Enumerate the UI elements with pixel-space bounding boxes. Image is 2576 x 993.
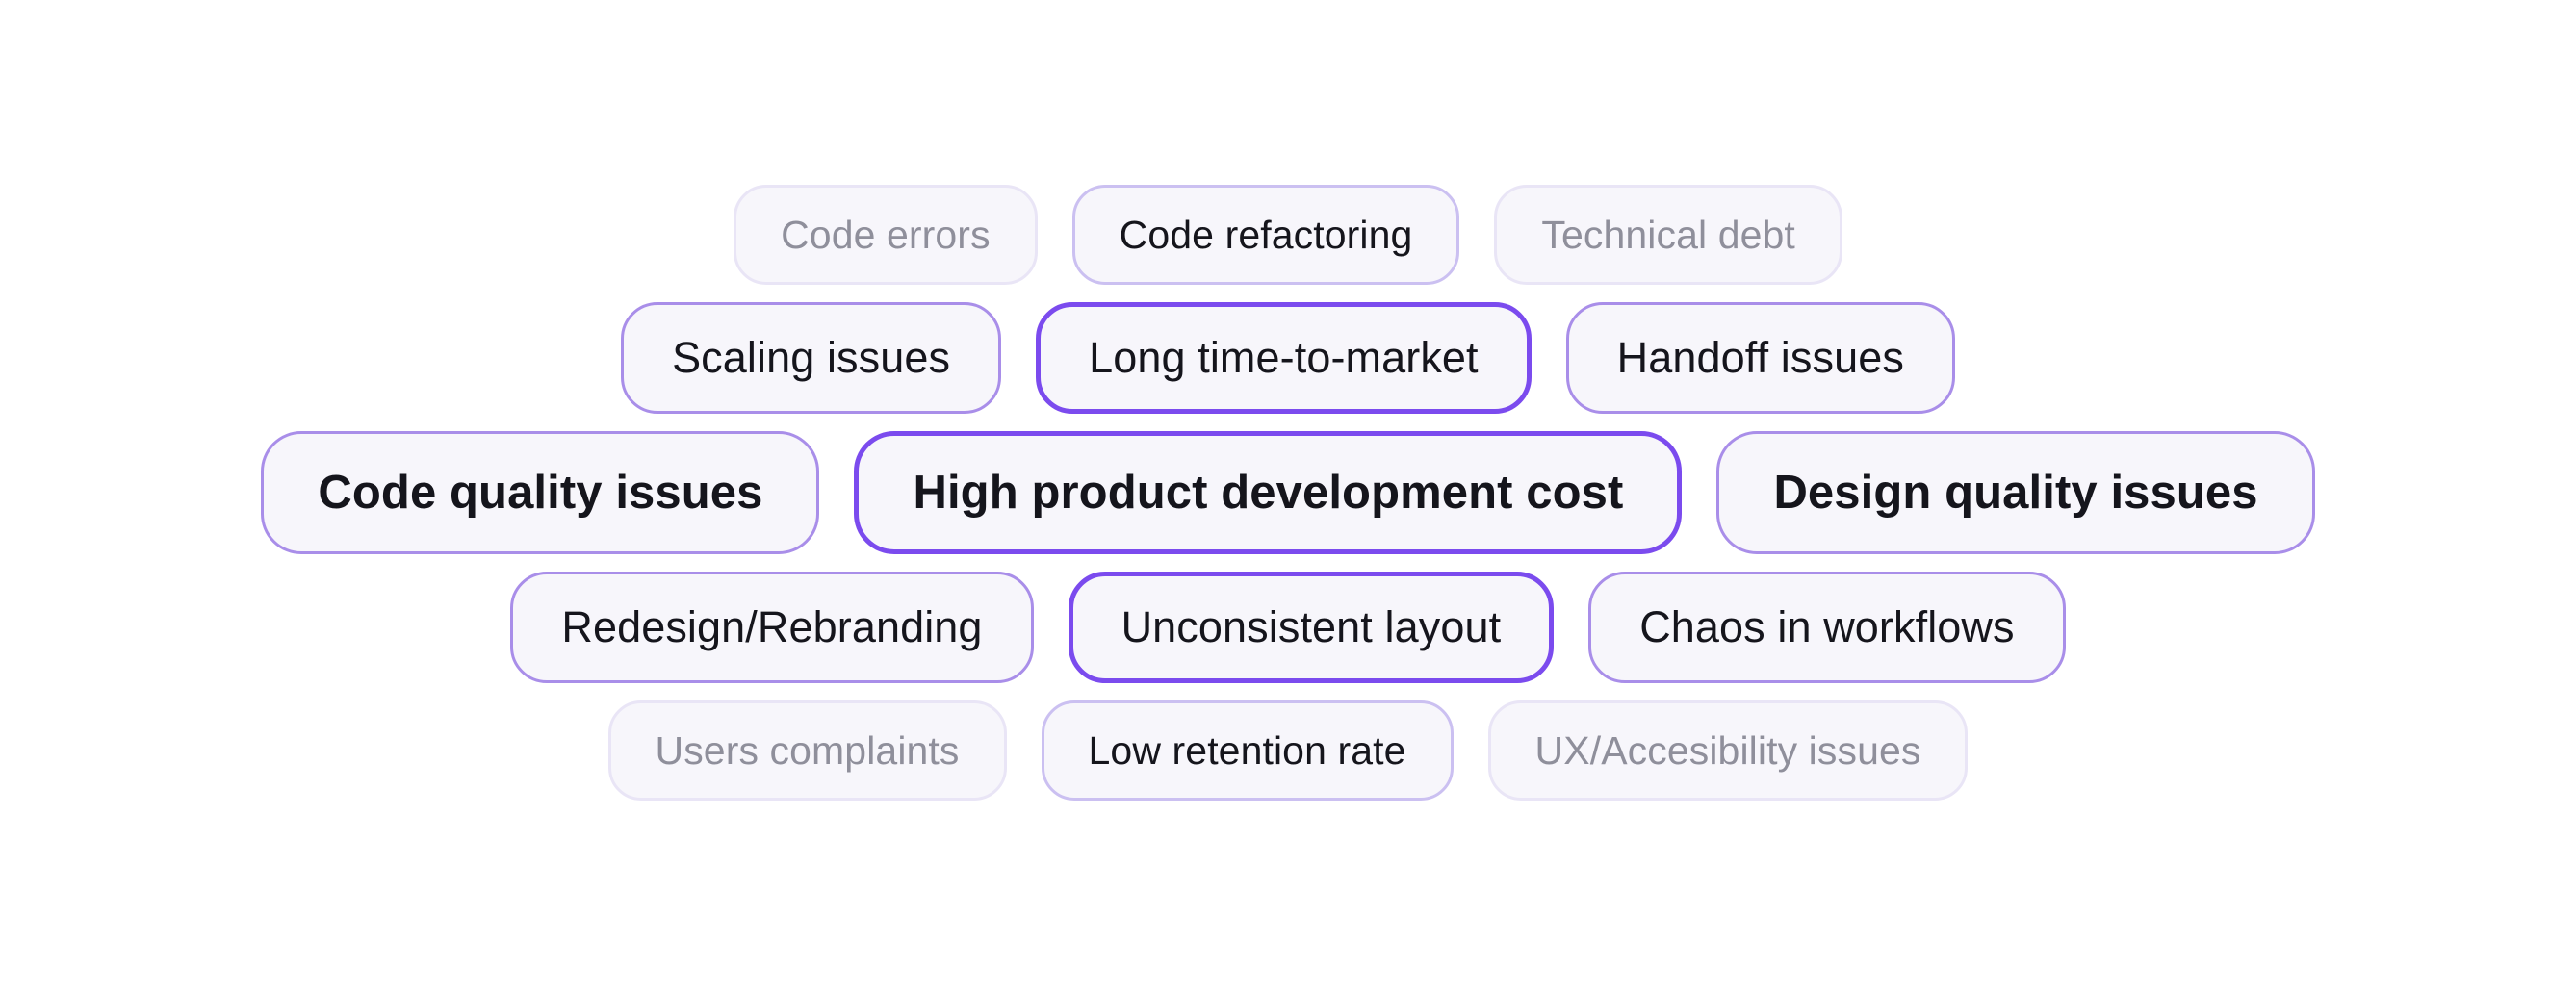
- tag-pill-label: Design quality issues: [1773, 466, 2257, 520]
- tag-pill[interactable]: Low retention rate: [1042, 700, 1454, 801]
- tag-pill[interactable]: Chaos in workflows: [1588, 572, 2065, 683]
- tag-pill[interactable]: Long time-to-market: [1036, 302, 1532, 414]
- tag-pill[interactable]: High product development cost: [854, 431, 1682, 554]
- tag-pill[interactable]: Code quality issues: [261, 431, 819, 554]
- tag-pill-label: Redesign/Rebranding: [561, 602, 982, 652]
- tag-row: Users complaintsLow retention rateUX/Acc…: [608, 700, 1969, 801]
- tag-pill[interactable]: Scaling issues: [621, 302, 1001, 414]
- tag-pill[interactable]: Code errors: [734, 185, 1038, 285]
- tag-pill[interactable]: Users complaints: [608, 700, 1007, 801]
- tag-pill-label: Low retention rate: [1089, 728, 1406, 774]
- tag-pill[interactable]: Unconsistent layout: [1069, 572, 1555, 683]
- tag-pill[interactable]: Design quality issues: [1716, 431, 2314, 554]
- tag-pill[interactable]: Technical debt: [1494, 185, 1842, 285]
- tag-pill[interactable]: Handoff issues: [1566, 302, 1955, 414]
- tag-pill-label: Long time-to-market: [1089, 333, 1479, 383]
- tag-pill-label: Code errors: [781, 213, 991, 258]
- tag-pill-label: Code quality issues: [318, 466, 762, 520]
- tag-pill-label: Technical debt: [1541, 213, 1795, 258]
- tag-pill[interactable]: Code refactoring: [1072, 185, 1460, 285]
- tag-pill-label: High product development cost: [913, 466, 1623, 520]
- tag-matrix: Code errorsCode refactoringTechnical deb…: [0, 0, 2576, 993]
- tag-row: Redesign/RebrandingUnconsistent layoutCh…: [510, 572, 2065, 683]
- tag-row: Code quality issuesHigh product developm…: [261, 431, 2314, 554]
- tag-row: Code errorsCode refactoringTechnical deb…: [734, 185, 1842, 285]
- tag-pill-label: Handoff issues: [1617, 333, 1904, 383]
- tag-pill-label: Code refactoring: [1120, 213, 1413, 258]
- tag-pill-label: Unconsistent layout: [1121, 602, 1502, 652]
- tag-pill[interactable]: Redesign/Rebranding: [510, 572, 1033, 683]
- tag-pill[interactable]: UX/Accesibility issues: [1488, 700, 1969, 801]
- tag-pill-label: UX/Accesibility issues: [1535, 728, 1921, 774]
- tag-row: Scaling issuesLong time-to-marketHandoff…: [621, 302, 1955, 414]
- tag-pill-label: Scaling issues: [672, 333, 950, 383]
- tag-pill-label: Users complaints: [656, 728, 960, 774]
- tag-pill-label: Chaos in workflows: [1639, 602, 2014, 652]
